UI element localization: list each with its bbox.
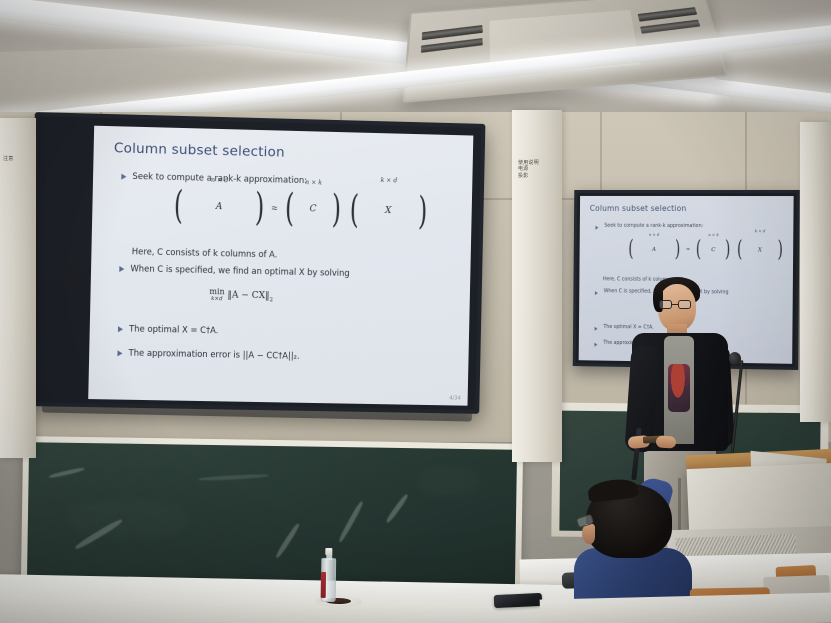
approx-symbol: ≈ xyxy=(270,203,280,214)
pillar-sign-left: 注意 xyxy=(3,156,13,162)
smartphone-icon[interactable] xyxy=(494,593,543,608)
paren-close-icon: ) xyxy=(674,241,679,259)
matrix-X-dims: k × d xyxy=(755,228,766,233)
ac-vent xyxy=(640,19,701,34)
bullet-triangle-icon xyxy=(119,266,124,272)
wall-pillar-left: 注意 xyxy=(0,118,36,458)
matrix-C-symbol: C xyxy=(703,238,723,262)
min-operator: min k×d xyxy=(209,287,225,302)
min-label: min xyxy=(209,287,225,296)
pillar-sign-middle: 使用说明 电源 投影 xyxy=(518,160,539,179)
bullet-triangle-icon xyxy=(595,291,598,295)
bullet-triangle-icon xyxy=(117,350,122,356)
eyeglasses-icon xyxy=(678,300,691,309)
chalk-smudge xyxy=(338,500,365,543)
min-subscript: k×d xyxy=(211,296,222,302)
bullet-triangle-icon xyxy=(595,225,598,229)
bullet-label: When C is specified, we find an optimal … xyxy=(130,263,349,279)
matrix-A: n × d ( A ) xyxy=(171,186,268,228)
wall-pillar-right xyxy=(800,122,831,422)
bullet-triangle-icon xyxy=(118,326,123,332)
norm-subscript: 2 xyxy=(269,297,273,303)
bullet-item-3: The optimal X = C†A. xyxy=(118,323,448,340)
paren-open-icon: ( xyxy=(737,241,743,259)
presenter-shirt-graphic xyxy=(668,364,690,412)
matrix-X: k × d ( X ) xyxy=(735,238,785,262)
ac-vent xyxy=(421,38,483,53)
paren-open-icon: ( xyxy=(628,241,633,259)
slide-main: Column subset selection Seek to compute … xyxy=(88,126,473,406)
bullet-label: Seek to compute a rank-k approximation: xyxy=(604,224,703,231)
water-bottle-icon xyxy=(321,548,337,602)
student-ear xyxy=(582,524,595,544)
lecture-hall-photo: Column subset selection Seek to compute … xyxy=(0,0,831,623)
matrix-A-dims: n × d xyxy=(649,232,659,237)
paren-close-icon: ) xyxy=(417,196,427,227)
matrix-X-symbol: X xyxy=(744,238,777,262)
main-display[interactable]: Column subset selection Seek to compute … xyxy=(28,112,485,414)
paren-close-icon: ) xyxy=(778,241,784,259)
min-formula: min k×d ‖A − CX‖2 xyxy=(209,287,273,303)
bullet-label: The approximation error is ||A − CC†A||₂… xyxy=(128,348,299,362)
paren-close-icon: ) xyxy=(725,241,731,259)
blackboard-frame xyxy=(21,436,523,596)
min-expression: ‖A − CX‖ xyxy=(227,290,269,301)
ceiling xyxy=(0,0,831,128)
matrix-X: k × d ( X ) xyxy=(346,190,430,232)
matrix-equation: n × d ( A ) ≈ n × k ( C ) k × d ( X ) xyxy=(171,186,430,232)
chalk-smudge xyxy=(418,466,478,497)
matrix-A: n × d ( A ) xyxy=(627,238,682,262)
matrix-A-symbol: A xyxy=(185,186,252,228)
matrix-equation-secondary: n × d ( A ) ≈ n × k ( C ) k × d ( X ) xyxy=(627,238,785,263)
matrix-C: n × k ( C ) xyxy=(695,238,733,262)
chalk-smudge xyxy=(49,467,85,479)
bullet-item-2: When C is specified, we find an optimal … xyxy=(119,263,449,281)
matrix-C-dims: n × k xyxy=(708,232,718,237)
paren-open-icon: ( xyxy=(285,193,295,224)
matrix-X-dims: k × d xyxy=(380,177,397,184)
paren-close-icon: ) xyxy=(331,194,341,225)
slide-title: Column subset selection xyxy=(114,140,285,160)
paren-open-icon: ( xyxy=(696,241,701,259)
matrix-A-dims: n × d xyxy=(211,177,228,184)
slide-page-number: 4/34 xyxy=(449,395,461,401)
chalk-smudge xyxy=(385,493,409,523)
bullet-triangle-icon xyxy=(121,174,126,180)
paren-open-icon: ( xyxy=(174,190,184,221)
matrix-C: n × k ( C ) xyxy=(282,189,344,230)
paren-open-icon: ( xyxy=(349,195,359,226)
presenter-hand-right xyxy=(656,435,677,448)
note-line: Here, C consists of k columns of A. xyxy=(132,246,278,259)
chalk-smudge xyxy=(275,523,301,559)
bottle-cap xyxy=(325,548,332,555)
ac-vent xyxy=(422,25,483,41)
bullet-item-4: The approximation error is ||A − CC†A||₂… xyxy=(117,347,447,364)
blackboard xyxy=(27,442,517,589)
matrix-C-dims: n × k xyxy=(305,179,322,186)
eyeglasses-icon xyxy=(659,300,672,309)
matrix-X-symbol: X xyxy=(361,190,415,231)
matrix-C-symbol: C xyxy=(297,189,330,230)
paren-close-icon: ) xyxy=(255,192,265,223)
eyeglasses-bridge xyxy=(672,304,678,305)
approx-symbol: ≈ xyxy=(684,247,691,253)
ac-vent xyxy=(637,7,697,22)
bullet-triangle-icon xyxy=(595,326,598,330)
chalk-smudge xyxy=(199,474,269,482)
matrix-A-symbol: A xyxy=(635,238,673,262)
bottle-label xyxy=(321,572,326,598)
chalk-smudge xyxy=(68,499,189,539)
slide-title-secondary: Column subset selection xyxy=(590,204,687,213)
wall-pillar-middle: 使用说明 电源 投影 xyxy=(512,110,562,462)
bullet-label: The optimal X = C†A. xyxy=(129,323,219,336)
bullet-triangle-icon xyxy=(594,342,597,346)
